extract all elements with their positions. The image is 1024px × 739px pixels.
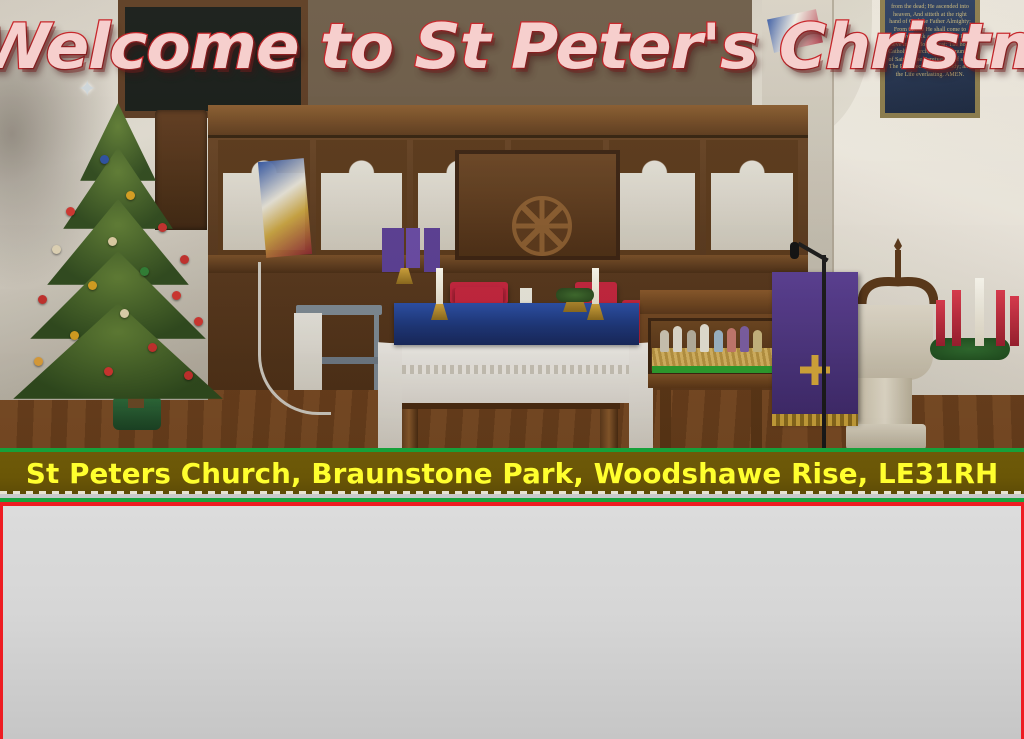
union-standard-flag <box>258 158 312 258</box>
altar-blue-frontal <box>394 303 639 345</box>
advent-hanging-mid <box>406 228 420 268</box>
address-bar: St Peters Church, Braunstone Park, Woods… <box>0 452 1024 494</box>
side-table-item <box>520 288 532 304</box>
banner-fringe <box>772 414 858 426</box>
services-panel: Candlelight Carol Service 17th December … <box>0 506 1024 739</box>
font-cover <box>858 232 938 310</box>
nativity-figure <box>740 326 749 352</box>
altar-cloth-fringe <box>378 365 653 374</box>
christmas-services-poster: from the dead; He ascend­ed into heaven,… <box>0 0 1024 739</box>
font-stem <box>858 378 912 428</box>
rule-dashed <box>0 491 1024 494</box>
altar-cloth-left <box>378 342 402 450</box>
nativity-figure <box>727 328 736 352</box>
crib-table-legs <box>660 386 762 448</box>
christmas-tree <box>8 95 228 415</box>
crib-grass-mat <box>652 366 772 373</box>
advent-candle-red <box>952 290 961 346</box>
advent-candle-red <box>1010 296 1019 346</box>
purple-banner <box>772 272 858 422</box>
altar-candle <box>592 268 599 308</box>
advent-hanging-right <box>424 228 440 272</box>
nativity-figure <box>673 326 682 352</box>
microphone-stand <box>822 255 826 450</box>
screen-arch <box>706 140 798 255</box>
nativity-figure <box>753 330 762 352</box>
nativity-figure <box>660 330 669 352</box>
panel-left-edge <box>0 506 3 739</box>
microphone-icon <box>790 242 799 259</box>
altar-greenery <box>556 288 594 302</box>
advent-candle-white <box>975 278 984 346</box>
font-base <box>846 424 926 450</box>
advent-candle-red <box>936 300 945 346</box>
advent-hanging-left <box>382 228 404 272</box>
nativity-figure <box>687 330 696 352</box>
rose-window-carving <box>512 196 572 256</box>
screen-arch <box>609 140 701 255</box>
nativity-figure <box>700 324 709 352</box>
nativity-figure <box>714 330 723 352</box>
screen-top-rail <box>208 105 808 138</box>
address-text: St Peters Church, Braunstone Park, Woods… <box>26 457 998 490</box>
altar-candle <box>436 268 443 308</box>
page-title: Welcome to St Peter's Christmas Services <box>0 2 1024 94</box>
advent-candle-red <box>996 290 1005 346</box>
